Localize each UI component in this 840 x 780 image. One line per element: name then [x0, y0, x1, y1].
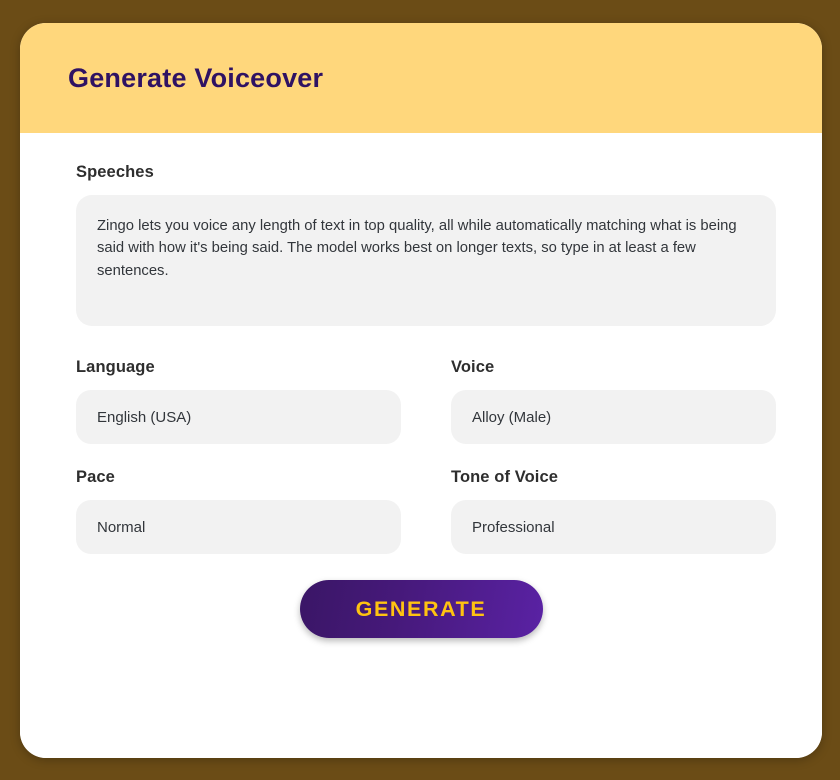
voice-select[interactable]: Alloy (Male): [451, 390, 776, 444]
pace-label: Pace: [76, 468, 401, 487]
speeches-label: Speeches: [76, 163, 766, 182]
voice-label: Voice: [451, 358, 776, 377]
page-title: Generate Voiceover: [68, 63, 323, 94]
pace-select[interactable]: Normal: [76, 500, 401, 554]
card-footer: GENERATE: [76, 580, 766, 638]
voice-field-group: Voice Alloy (Male): [451, 358, 776, 444]
tone-of-voice-select[interactable]: Professional: [451, 500, 776, 554]
pace-tone-row: Pace Normal Tone of Voice Professional: [76, 468, 766, 554]
speeches-textarea[interactable]: [76, 195, 776, 326]
pace-field-group: Pace Normal: [76, 468, 401, 554]
generate-voiceover-card: Generate Voiceover Speeches Language Eng…: [20, 23, 822, 758]
pace-selected-value: Normal: [97, 519, 145, 536]
tone-of-voice-selected-value: Professional: [472, 519, 555, 536]
language-field-group: Language English (USA): [76, 358, 401, 444]
page-background: Generate Voiceover Speeches Language Eng…: [0, 0, 840, 780]
language-selected-value: English (USA): [97, 409, 191, 426]
language-select[interactable]: English (USA): [76, 390, 401, 444]
generate-button[interactable]: GENERATE: [300, 580, 543, 638]
voice-selected-value: Alloy (Male): [472, 409, 551, 426]
language-voice-row: Language English (USA) Voice Alloy (Male…: [76, 358, 766, 444]
speeches-field-group: Speeches: [76, 163, 766, 331]
card-body: Speeches Language English (USA) Voice Al…: [20, 133, 822, 758]
language-label: Language: [76, 358, 401, 377]
card-header: Generate Voiceover: [20, 23, 822, 133]
tone-of-voice-label: Tone of Voice: [451, 468, 776, 487]
tone-of-voice-field-group: Tone of Voice Professional: [451, 468, 776, 554]
